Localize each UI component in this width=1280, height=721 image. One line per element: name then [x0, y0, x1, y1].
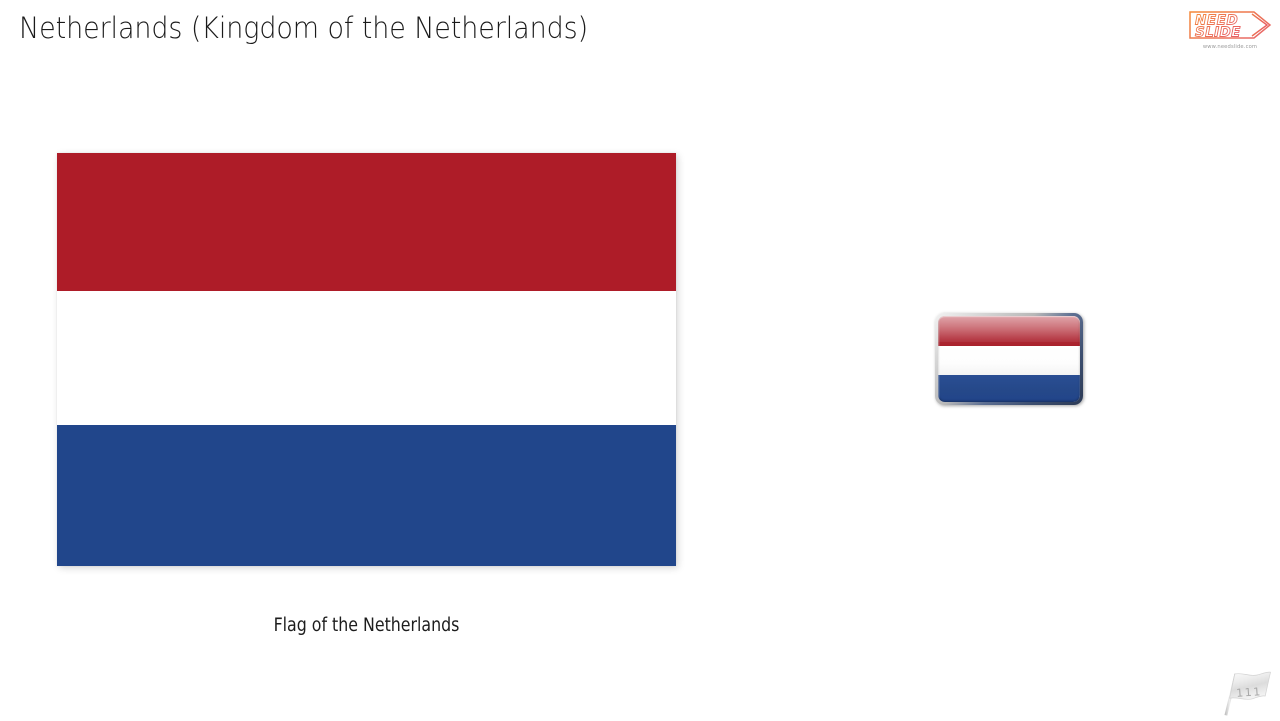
flag-caption: Flag of the Netherlands	[72, 615, 660, 636]
brand-url: www.needslide.com	[1186, 44, 1274, 50]
glossy-stripe-red	[938, 316, 1080, 346]
needslide-arrow-logo-icon: NEED SLIDE	[1186, 8, 1274, 42]
page-number-badge: 111	[1221, 670, 1273, 716]
glossy-stripe-white	[938, 346, 1080, 375]
page-title: Netherlands (Kingdom of the Netherlands)	[19, 11, 588, 45]
waving-flag-icon	[1221, 670, 1273, 716]
brand-logo[interactable]: NEED SLIDE www.needslide.com	[1186, 8, 1274, 56]
flag-stripe-white	[57, 291, 676, 425]
glossy-stripe-blue	[938, 375, 1080, 402]
flag-stripe-red	[57, 153, 676, 291]
netherlands-flag-image	[57, 153, 676, 566]
netherlands-glossy-flag-icon	[935, 313, 1083, 405]
glossy-flag-face	[938, 316, 1080, 402]
svg-text:SLIDE: SLIDE	[1195, 25, 1241, 41]
flag-stripe-blue	[57, 425, 676, 566]
